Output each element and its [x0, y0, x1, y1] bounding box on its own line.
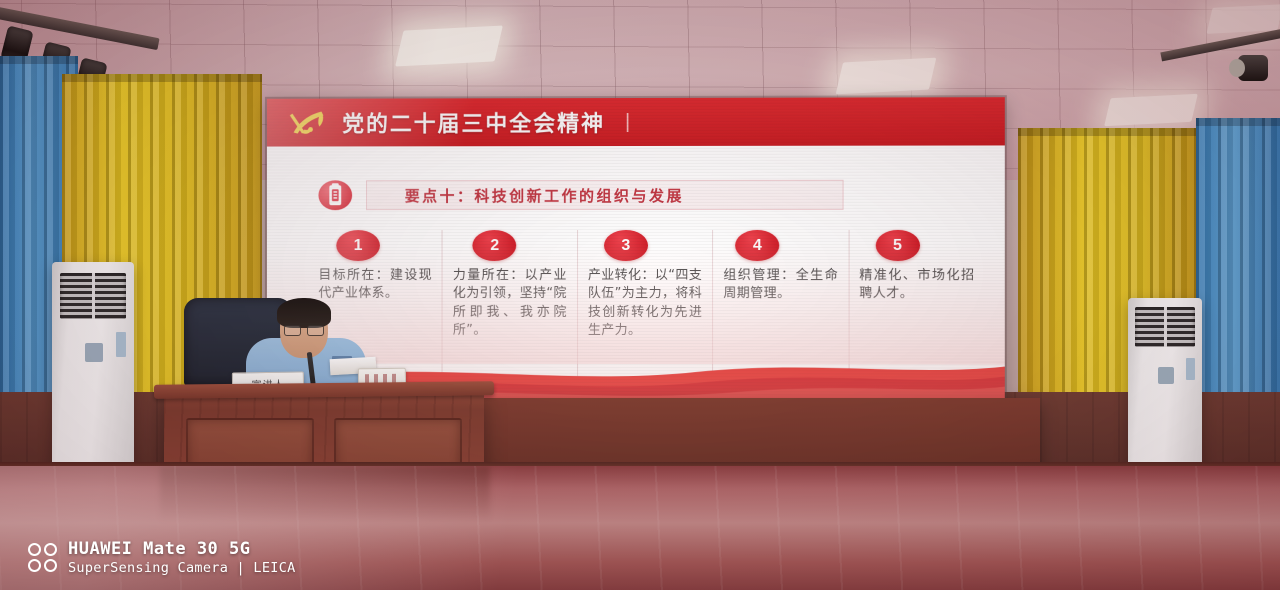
column-text: 力量所在：以产业化为引领，坚持“院所即我、我亦院所”。 — [453, 267, 567, 341]
stage-spotlight-icon — [1238, 55, 1268, 81]
watermark-device-name: HUAWEI Mate 30 5G — [68, 539, 296, 559]
led-presentation-screen: 党的二十届三中全会精神 | 要点十：科技创新工作的组织与发展 1 — [267, 97, 1005, 411]
ac-logo — [1158, 367, 1174, 383]
ac-vent-grille — [60, 273, 126, 320]
slide-banner: 党的二十届三中全会精神 | — [267, 97, 1005, 146]
huawei-leica-four-circles-icon — [28, 543, 57, 572]
clipboard-icon — [318, 180, 352, 210]
air-conditioner-left — [52, 262, 134, 474]
ac-vent-grille — [1135, 307, 1194, 347]
column-number-badge: 1 — [336, 230, 380, 261]
column-number-badge: 3 — [604, 230, 648, 261]
slide-title: 党的二十届三中全会精神 — [342, 106, 605, 138]
column-text: 组织管理：全生命周期管理。 — [723, 267, 838, 304]
slide-subtitle-bar: 要点十：科技创新工作的组织与发展 — [366, 180, 844, 210]
slide-subtitle-row: 要点十：科技创新工作的组织与发展 — [318, 178, 843, 212]
column-text: 产业转化：以“四支队伍”为主力，将科技创新转化为先进生产力。 — [588, 267, 702, 341]
column-text: 精准化、市场化招聘人才。 — [859, 267, 974, 304]
stage-table — [480, 398, 1040, 472]
watermark-camera-name: SuperSensing Camera | LEICA — [68, 560, 296, 576]
glasses-icon — [284, 323, 324, 332]
column-number-badge: 5 — [875, 230, 919, 261]
party-hammer-sickle-icon — [289, 108, 329, 138]
slide-subtitle-text: 要点十：科技创新工作的组织与发展 — [405, 184, 684, 205]
ac-label — [116, 332, 126, 357]
ac-logo — [85, 343, 103, 362]
column-text: 目标所在：建设现代产业体系。 — [318, 267, 432, 304]
camera-watermark: HUAWEI Mate 30 5G SuperSensing Camera | … — [28, 539, 296, 576]
air-conditioner-right — [1128, 298, 1202, 480]
ac-label — [1186, 358, 1195, 380]
column-number-badge: 4 — [735, 230, 779, 261]
conference-hall-photo: 党的二十届三中全会精神 | 要点十：科技创新工作的组织与发展 1 — [0, 0, 1280, 590]
column-number-badge: 2 — [473, 230, 517, 261]
banner-separator: | — [625, 111, 630, 134]
